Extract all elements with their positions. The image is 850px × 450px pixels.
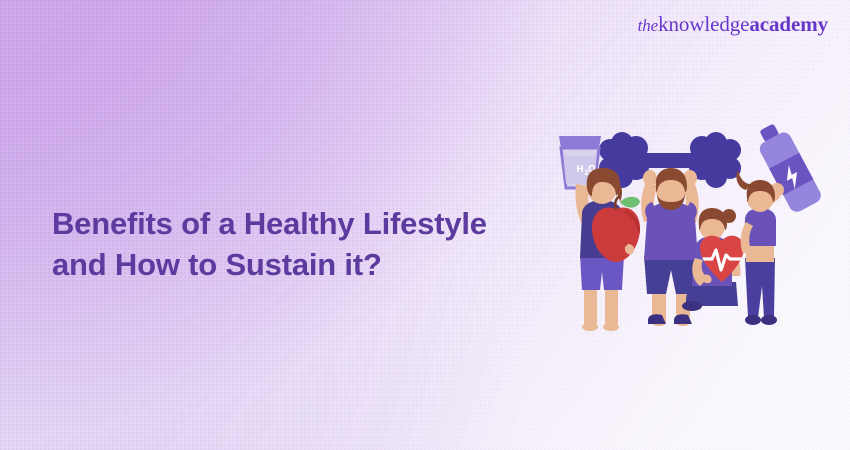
figure-woman-with-bottle (736, 170, 784, 325)
site-logo[interactable]: theknowledgeacademy (638, 14, 828, 35)
illustration-svg: H 2 O (540, 110, 840, 335)
logo-text-the: the (638, 16, 658, 35)
hero-illustration: H 2 O (540, 110, 840, 335)
page-title-line-2: and How to Sustain it? (52, 244, 532, 285)
logo-text-academy: academy (749, 12, 828, 36)
page-title: Benefits of a Healthy Lifestyle and How … (52, 203, 532, 285)
water-glass-label: H (576, 164, 583, 175)
apple-leaf (620, 197, 640, 208)
figure-woman-with-apple (575, 168, 640, 331)
page-title-line-1: Benefits of a Healthy Lifestyle (52, 203, 532, 244)
blog-banner: theknowledgeacademy Benefits of a Health… (0, 0, 850, 450)
logo-text-knowledge: knowledge (658, 12, 749, 36)
ponytail (736, 170, 750, 190)
